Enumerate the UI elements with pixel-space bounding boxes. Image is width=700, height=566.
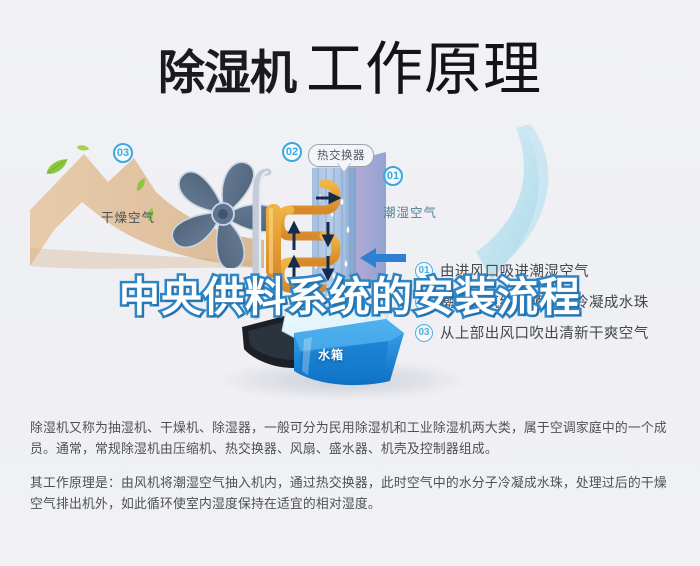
step-label: 从上部出风口吹出清新干爽空气 xyxy=(440,322,649,343)
paragraph-1: 除湿机又称为抽湿机、干燥机、除湿器，一般可分为民用除湿机和工业除湿机两大类，属于… xyxy=(30,417,675,459)
list-item: 01 由进风口吸进潮湿空气 xyxy=(415,255,690,286)
paragraph-2: 其工作原理是：由风机将潮湿空气抽入机内，通过热交换器，此时空气中的水分子冷凝成水… xyxy=(30,472,675,514)
step-number-badge: 02 xyxy=(415,293,433,311)
list-item: 03 从上部出风口吹出清新干爽空气 xyxy=(415,317,690,348)
page-title: 除湿机工作原理 xyxy=(0,22,700,106)
badge-02-heat-exchanger: 02 xyxy=(282,142,302,162)
page-root: 除湿机工作原理 xyxy=(0,0,700,566)
badge-03-dry-air: 03 xyxy=(113,143,133,163)
step-number-badge: 03 xyxy=(415,324,433,342)
dry-air-label: 干燥空气 xyxy=(101,207,155,226)
list-item: 02 潮湿空气经过蒸发器冷凝成水珠 xyxy=(415,286,690,317)
water-tank-label: 水箱 xyxy=(318,346,344,363)
humid-air-label: 潮湿空气 xyxy=(383,202,437,221)
step-label: 潮湿空气经过蒸发器冷凝成水珠 xyxy=(440,291,649,312)
body-copy: 除湿机又称为抽湿机、干燥机、除湿器，一般可分为民用除湿机和工业除湿机两大类，属于… xyxy=(30,417,675,514)
page-title-light: 工作原理 xyxy=(306,37,542,102)
page-title-bold: 除湿机 xyxy=(158,46,296,99)
step-label: 由进风口吸进潮湿空气 xyxy=(440,260,589,281)
callout-tail-icon xyxy=(337,162,351,172)
water-tank-icon xyxy=(238,293,408,388)
badge-01-humid-air: 01 xyxy=(383,166,403,186)
step-number-badge: 01 xyxy=(415,262,433,280)
steps-list: 01 由进风口吸进潮湿空气 02 潮湿空气经过蒸发器冷凝成水珠 03 从上部出风… xyxy=(415,255,690,348)
